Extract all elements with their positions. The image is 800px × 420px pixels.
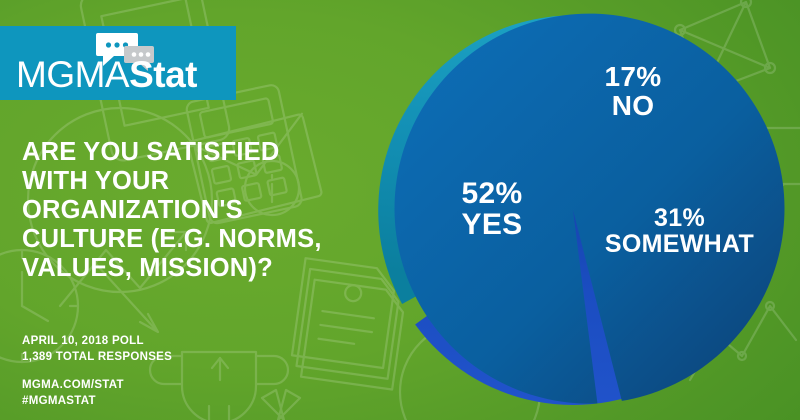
pie-label-yes-value: 52% bbox=[422, 178, 562, 209]
pie-label-yes-name: YES bbox=[422, 209, 562, 240]
pie-label-no: 17% NO bbox=[578, 62, 688, 120]
infographic-poster: MGMAStat ARE YOU SATISFIED WITH YOUR ORG… bbox=[0, 0, 800, 420]
pie-label-no-name: NO bbox=[578, 91, 688, 120]
pie-label-somewhat: 31% SOMEWHAT bbox=[592, 205, 767, 257]
pie-label-no-value: 17% bbox=[578, 62, 688, 91]
pie-label-yes: 52% YES bbox=[422, 178, 562, 240]
pie-chart: 52% YES 17% NO 31% SOMEWHAT bbox=[0, 0, 800, 420]
pie-label-somewhat-name: SOMEWHAT bbox=[592, 231, 767, 257]
pie-label-somewhat-value: 31% bbox=[592, 205, 767, 231]
